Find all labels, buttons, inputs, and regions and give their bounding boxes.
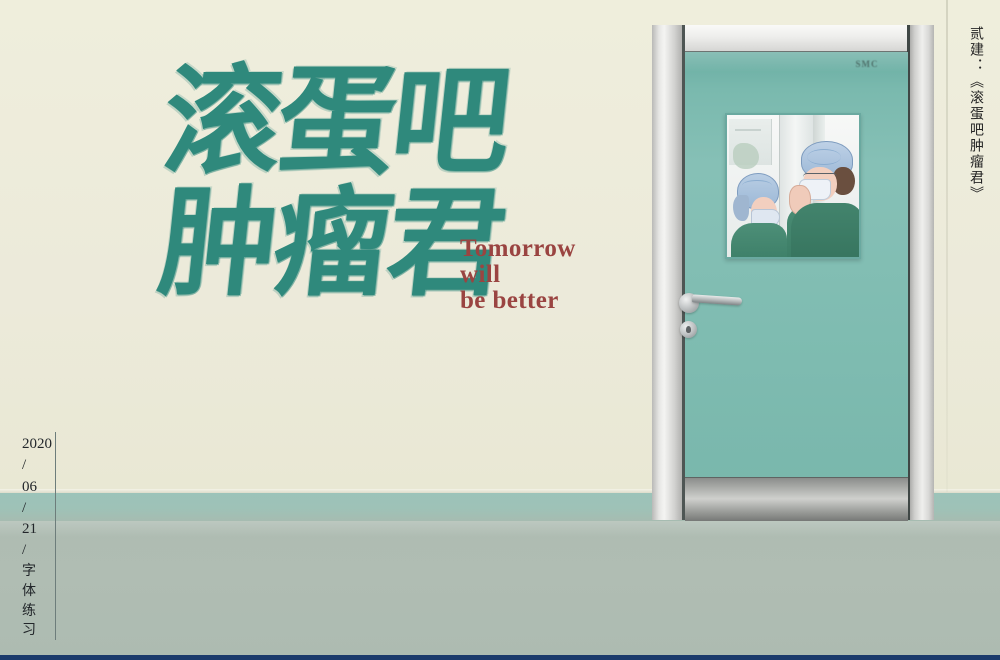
door-window xyxy=(725,113,861,259)
date-year: 2020 xyxy=(22,434,58,455)
surgeon-scrubs xyxy=(791,203,861,259)
date-month: 06 xyxy=(22,477,58,498)
date-label-char-1: 字 xyxy=(22,562,58,582)
floor-surface xyxy=(0,521,1000,656)
nurse-scrubs xyxy=(731,223,787,259)
date-separator-2: / xyxy=(22,498,58,519)
door-kick-plate xyxy=(685,477,908,521)
door-brand-logo: SMC xyxy=(844,57,890,71)
date-separator-1: / xyxy=(22,455,58,476)
calligraphy-line-2: 肿瘤君 xyxy=(154,184,508,302)
door-frame-right xyxy=(908,25,934,520)
nurse-figure xyxy=(731,173,789,257)
floor-reflection xyxy=(0,521,1000,537)
date-label-char-4: 习 xyxy=(22,621,58,641)
date-separator-3: / xyxy=(22,540,58,561)
right-wall-edge xyxy=(946,0,948,492)
tagline-line-1: Tomorrow xyxy=(460,236,576,262)
credit-vertical-text: 贰建：《滚蛋吧肿瘤君》 xyxy=(966,26,986,202)
surgeon-figure xyxy=(787,141,861,257)
door-frame-header xyxy=(682,25,910,52)
door-frame-left xyxy=(652,25,684,520)
bottom-accent-bar xyxy=(0,655,1000,660)
nurse-hair xyxy=(733,195,749,221)
date-label-char-2: 体 xyxy=(22,582,58,602)
hospital-door: SMC xyxy=(652,25,934,520)
window-foliage xyxy=(733,143,759,169)
door-lock-keyhole-icon xyxy=(686,326,691,333)
poster-canvas: SMC xyxy=(0,0,1000,660)
date-column: 2020 / 06 / 21 / 字 体 练 习 xyxy=(22,434,58,641)
calligraphy-line-1: 滚蛋吧 xyxy=(158,62,512,180)
date-label-char-3: 练 xyxy=(22,602,58,622)
date-day: 21 xyxy=(22,519,58,540)
tagline-line-2: will xyxy=(460,262,576,288)
english-tagline: Tomorrow will be better xyxy=(460,236,576,314)
surgeon-cap-folds xyxy=(807,149,841,165)
window-cabinet-shelf xyxy=(735,129,761,131)
tagline-line-3: be better xyxy=(460,288,576,314)
